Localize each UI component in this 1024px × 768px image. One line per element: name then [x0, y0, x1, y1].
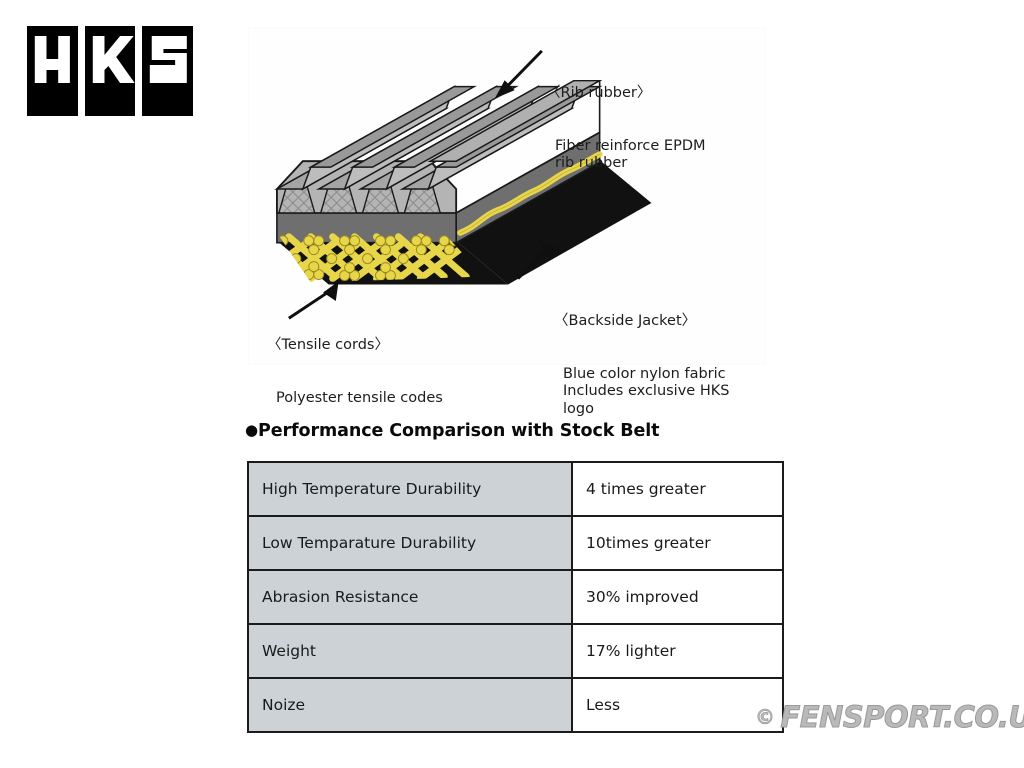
figure-label-backside-jacket-head: 〈Backside Jacket〉 — [554, 313, 729, 331]
table-cell-metric: Noize — [248, 678, 572, 732]
table-cell-metric: Weight — [248, 624, 572, 678]
table-row: Weight 17% lighter — [248, 624, 783, 678]
performance-comparison-table: High Temperature Durability 4 times grea… — [247, 461, 784, 733]
hks-logo-tile-s — [142, 26, 193, 116]
table-cell-metric: Abrasion Resistance — [248, 570, 572, 624]
table-row: Noize Less — [248, 678, 783, 732]
table-cell-value: Less — [572, 678, 783, 732]
table-cell-value: 4 times greater — [572, 462, 783, 516]
watermark-text: FENSPORT.CO.UK — [781, 700, 1024, 734]
hks-logo-tile-h — [27, 26, 78, 116]
figure-label-rib-rubber: 〈Rib rubber〉 Fiber reinforce EPDM rib ru… — [546, 50, 706, 208]
table-cell-metric: High Temperature Durability — [248, 462, 572, 516]
table-cell-value: 30% improved — [572, 570, 783, 624]
table-cell-value: 10times greater — [572, 516, 783, 570]
hks-letter-s-icon — [142, 26, 193, 116]
heading-bullet-icon: ● — [245, 421, 258, 439]
belt-cutaway-figure: 〈Rib rubber〉 Fiber reinforce EPDM rib ru… — [248, 27, 766, 365]
table-row: High Temperature Durability 4 times grea… — [248, 462, 783, 516]
table-row: Low Temparature Durability 10times great… — [248, 516, 783, 570]
figure-label-tensile-cords-head: 〈Tensile cords〉 — [267, 337, 443, 355]
figure-label-rib-rubber-head: 〈Rib rubber〉 — [546, 85, 706, 103]
figure-label-backside-jacket-body: Blue color nylon fabric Includes exclusi… — [554, 366, 729, 419]
fensport-watermark: ©FENSPORT.CO.UK — [755, 700, 1024, 734]
table-cell-metric: Low Temparature Durability — [248, 516, 572, 570]
hks-letter-h-icon — [27, 26, 78, 116]
performance-comparison-heading: ●Performance Comparison with Stock Belt — [245, 421, 659, 441]
heading-text: Performance Comparison with Stock Belt — [258, 421, 659, 441]
copyright-icon: © — [755, 705, 775, 729]
hks-letter-k-icon — [85, 26, 136, 116]
hks-logo — [27, 26, 193, 116]
hks-logo-tile-k — [85, 26, 136, 116]
table-row: Abrasion Resistance 30% improved — [248, 570, 783, 624]
figure-label-tensile-cords-body: Polyester tensile codes — [267, 390, 443, 408]
figure-label-rib-rubber-body: Fiber reinforce EPDM rib rubber — [546, 138, 706, 173]
table-cell-value: 17% lighter — [572, 624, 783, 678]
